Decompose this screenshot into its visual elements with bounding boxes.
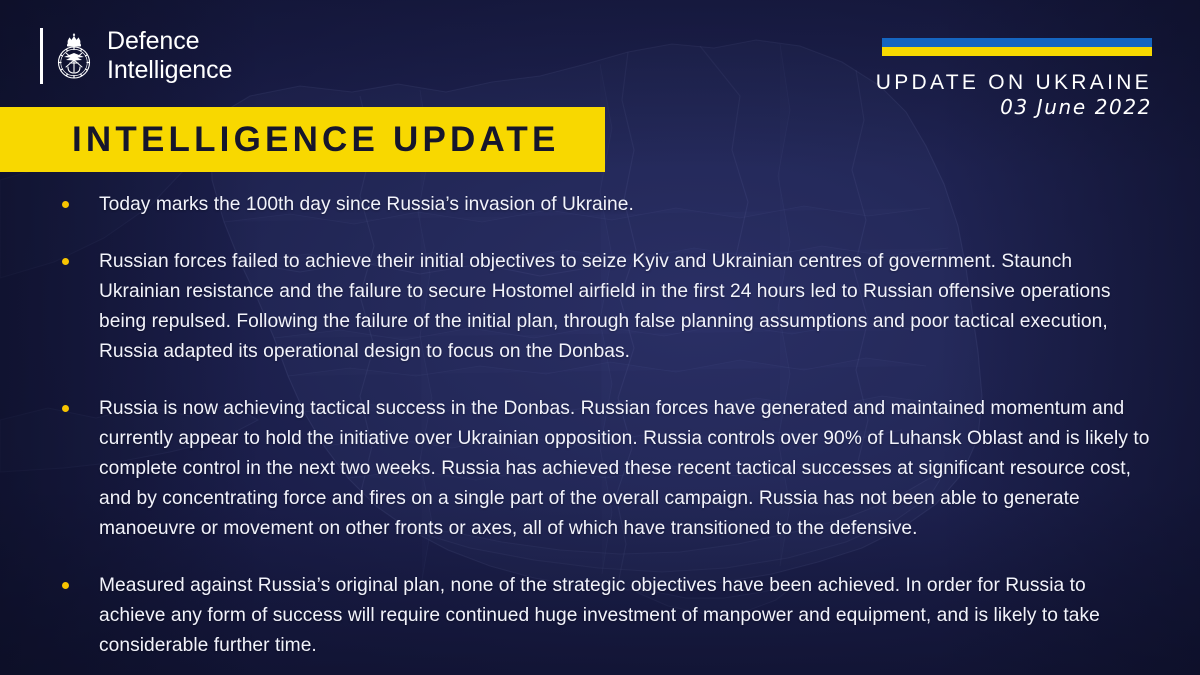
logo-line-defence: Defence xyxy=(107,27,232,56)
flag-stripe-yellow xyxy=(882,47,1152,56)
list-item: Today marks the 100th day since Russia’s… xyxy=(62,190,1154,220)
list-item: Russian forces failed to achieve their i… xyxy=(62,247,1154,367)
update-title: UPDATE ON UKRAINE xyxy=(752,70,1152,95)
logo-line-intelligence: Intelligence xyxy=(107,56,232,85)
intelligence-update-slide: Defence Intelligence UPDATE ON UKRAINE 0… xyxy=(0,0,1200,675)
bullet-text: Russian forces failed to achieve their i… xyxy=(99,247,1154,367)
banner-title: INTELLIGENCE UPDATE xyxy=(0,120,560,160)
update-heading-block: UPDATE ON UKRAINE 03 June 2022 xyxy=(752,70,1152,119)
flag-stripe-blue xyxy=(882,38,1152,47)
bullet-text: Russia is now achieving tactical success… xyxy=(99,394,1154,544)
bullet-text: Today marks the 100th day since Russia’s… xyxy=(99,190,634,220)
bullet-text: Measured against Russia’s original plan,… xyxy=(99,571,1154,661)
bullet-dot-icon xyxy=(62,582,69,589)
intelligence-update-banner: INTELLIGENCE UPDATE xyxy=(0,107,605,172)
update-date: 03 June 2022 xyxy=(752,95,1152,119)
list-item: Measured against Russia’s original plan,… xyxy=(62,571,1154,661)
bullet-list: Today marks the 100th day since Russia’s… xyxy=(62,190,1154,661)
ukraine-flag-bar-icon xyxy=(882,38,1152,56)
logo-wordmark: Defence Intelligence xyxy=(107,27,232,85)
logo-divider-rule xyxy=(40,28,43,84)
mod-defence-intelligence-crest-icon xyxy=(55,31,93,81)
bullet-dot-icon xyxy=(62,405,69,412)
list-item: Russia is now achieving tactical success… xyxy=(62,394,1154,544)
bullet-dot-icon xyxy=(62,201,69,208)
bullet-dot-icon xyxy=(62,258,69,265)
defence-intelligence-logo: Defence Intelligence xyxy=(40,25,232,87)
